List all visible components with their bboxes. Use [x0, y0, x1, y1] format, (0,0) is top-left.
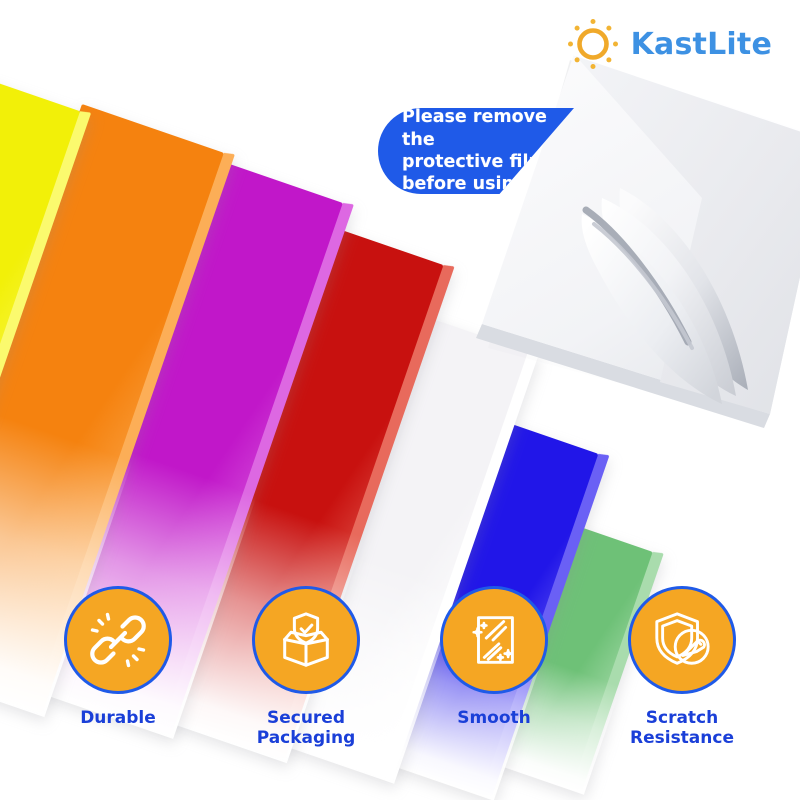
feature-secured-packaging[interactable]: Secured Packaging	[221, 586, 391, 749]
feature-durable[interactable]: Durable	[33, 586, 203, 728]
feature-badge	[252, 586, 360, 694]
clear-acrylic-sheet-with-film	[470, 48, 800, 428]
sun-icon	[565, 16, 621, 72]
feature-label: Scratch Resistance	[630, 708, 734, 749]
shield-box-icon	[275, 609, 337, 671]
sparkle-panel-icon	[463, 609, 525, 671]
feature-smooth[interactable]: Smooth	[409, 586, 579, 728]
feature-label: Secured Packaging	[257, 708, 356, 749]
shield-blade-icon	[651, 609, 713, 671]
feature-label: Durable	[80, 708, 156, 728]
brand-logo[interactable]: KastLite	[565, 16, 772, 72]
feature-list: Durable Secured Packaging	[0, 586, 800, 766]
chain-link-icon	[86, 608, 150, 672]
product-infographic: Please remove the protective film before…	[0, 0, 800, 800]
clear-sheet-svg	[470, 48, 800, 428]
feature-badge	[628, 586, 736, 694]
brand-name: KastLite	[631, 27, 772, 62]
feature-label: Smooth	[457, 708, 531, 728]
feature-scratch-resistance[interactable]: Scratch Resistance	[597, 586, 767, 749]
feature-badge	[440, 586, 548, 694]
feature-badge	[64, 586, 172, 694]
